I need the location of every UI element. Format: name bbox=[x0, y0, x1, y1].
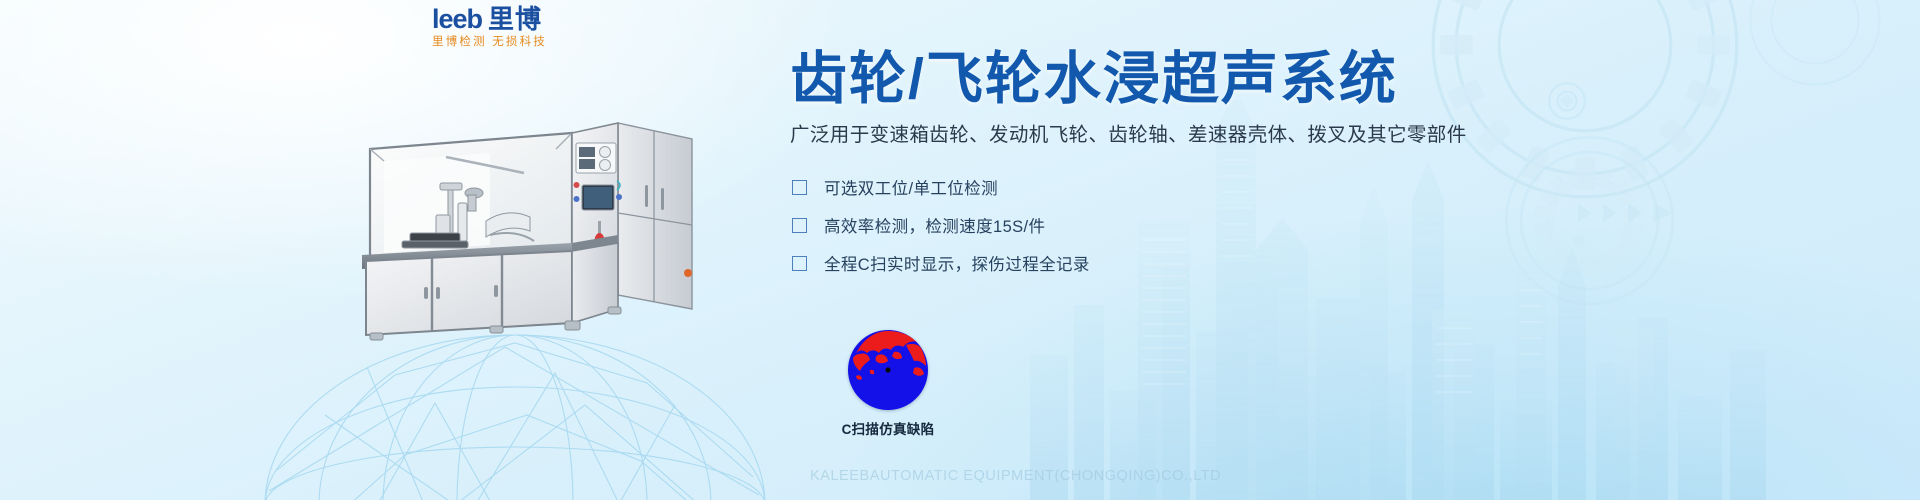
logo-wordmark: leeb 里博 bbox=[432, 6, 612, 33]
logo-tagline: 里博检测 无损科技 bbox=[432, 36, 612, 49]
feature-label: 全程C扫实时显示，探伤过程全记录 bbox=[824, 251, 1090, 275]
cscan-caption: C扫描仿真缺陷 bbox=[818, 418, 958, 438]
promo-banner: KALEEBAUTOMATIC EQUIPMENT(CHONGQING)CO.,… bbox=[0, 0, 1920, 500]
product-photo-ultrasonic-machine bbox=[340, 95, 710, 345]
checkbox-empty-icon bbox=[792, 218, 807, 233]
target-ring-icon bbox=[1546, 80, 1588, 122]
chevron-arrows-icon bbox=[1576, 200, 1692, 226]
cscan-defect-image bbox=[848, 330, 928, 410]
cscan-sample: C扫描仿真缺陷 bbox=[818, 330, 958, 445]
feature-list: 可选双工位/单工位检测 高效率检测，检测速度15S/件 全程C扫实时显示，探伤过… bbox=[790, 168, 1550, 282]
feature-label: 高效率检测，检测速度15S/件 bbox=[824, 213, 1045, 237]
feature-item: 高效率检测，检测速度15S/件 bbox=[790, 206, 1550, 244]
logo-chinese-text: 里博 bbox=[488, 6, 542, 32]
checkbox-empty-icon bbox=[792, 256, 807, 271]
feature-item: 可选双工位/单工位检测 bbox=[790, 168, 1550, 206]
dot-icon bbox=[1570, 232, 1588, 250]
checkbox-empty-icon bbox=[792, 180, 807, 195]
page-title: 齿轮/飞轮水浸超声系统 bbox=[790, 48, 1550, 110]
brand-logo[interactable]: leeb 里博 里博检测 无损科技 bbox=[432, 6, 612, 50]
hero-copy: 齿轮/飞轮水浸超声系统 广泛用于变速箱齿轮、发动机飞轮、齿轮轴、差速器壳体、拨叉… bbox=[790, 48, 1550, 282]
gear-outline-icon bbox=[1740, 0, 1890, 95]
company-watermark: KALEEBAUTOMATIC EQUIPMENT(CHONGQING)CO.,… bbox=[810, 468, 1221, 484]
cscan-defect-map bbox=[848, 330, 928, 410]
feature-item: 全程C扫实时显示，探伤过程全记录 bbox=[790, 244, 1550, 282]
feature-label: 可选双工位/单工位检测 bbox=[824, 175, 998, 199]
page-subtitle: 广泛用于变速箱齿轮、发动机飞轮、齿轮轴、差速器壳体、拨叉及其它零部件 bbox=[790, 122, 1550, 148]
logo-latin-text: leeb bbox=[432, 6, 482, 33]
